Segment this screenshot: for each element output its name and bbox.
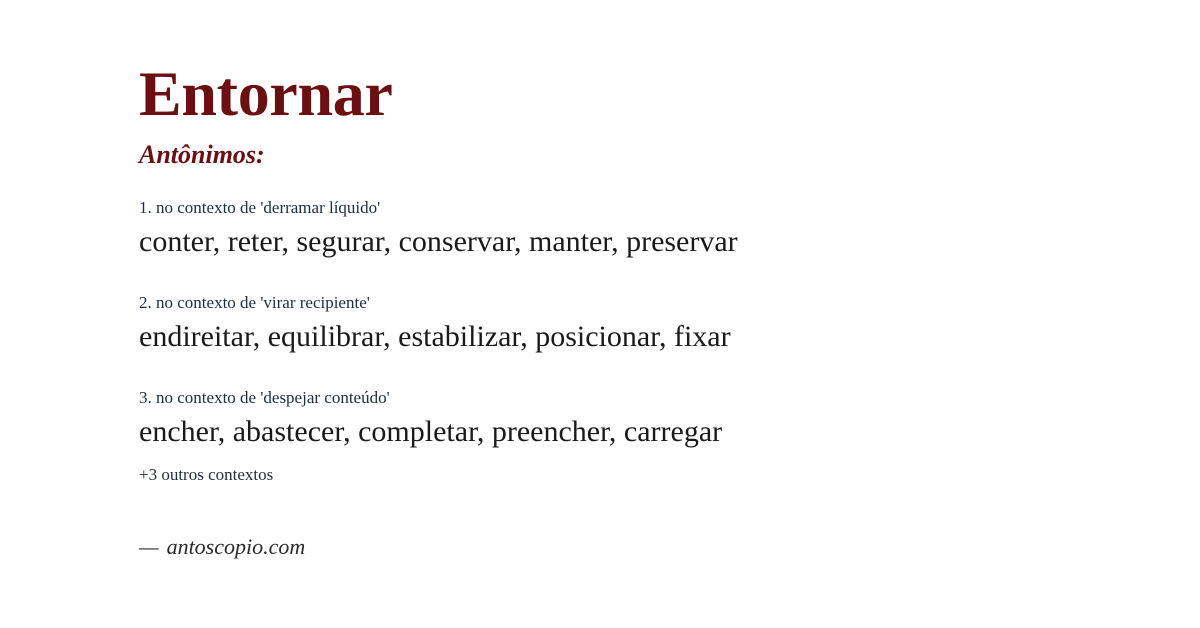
sense-entry: 1. no contexto de 'derramar líquido' con… — [139, 198, 1149, 261]
sense-antonym-words: conter, reter, segurar, conservar, mante… — [139, 223, 1149, 261]
card-header: Entornar Antônimos: — [139, 62, 1139, 168]
sense-entry: 3. no contexto de 'despejar conteúdo' en… — [139, 388, 1149, 451]
more-contexts-label: +3 outros contextos — [139, 465, 273, 485]
antonym-card: Entornar Antônimos: 1. no contexto de 'd… — [0, 0, 1200, 628]
sense-entry: 2. no contexto de 'virar recipiente' end… — [139, 293, 1149, 356]
sense-antonym-words: encher, abastecer, completar, preencher,… — [139, 413, 1149, 451]
sense-context-label: 2. no contexto de 'virar recipiente' — [139, 293, 1149, 313]
relation-type-label: Antônimos: — [139, 142, 1139, 168]
sense-context-label: 3. no contexto de 'despejar conteúdo' — [139, 388, 1149, 408]
page-title: Entornar — [139, 62, 1139, 126]
attribution: —antoscopio.com — [139, 534, 305, 560]
sense-list: 1. no contexto de 'derramar líquido' con… — [139, 198, 1149, 451]
sense-antonym-words: endireitar, equilibrar, estabilizar, pos… — [139, 318, 1149, 356]
attribution-dash: — — [139, 534, 159, 559]
sense-context-label: 1. no contexto de 'derramar líquido' — [139, 198, 1149, 218]
attribution-source: antoscopio.com — [167, 534, 306, 559]
